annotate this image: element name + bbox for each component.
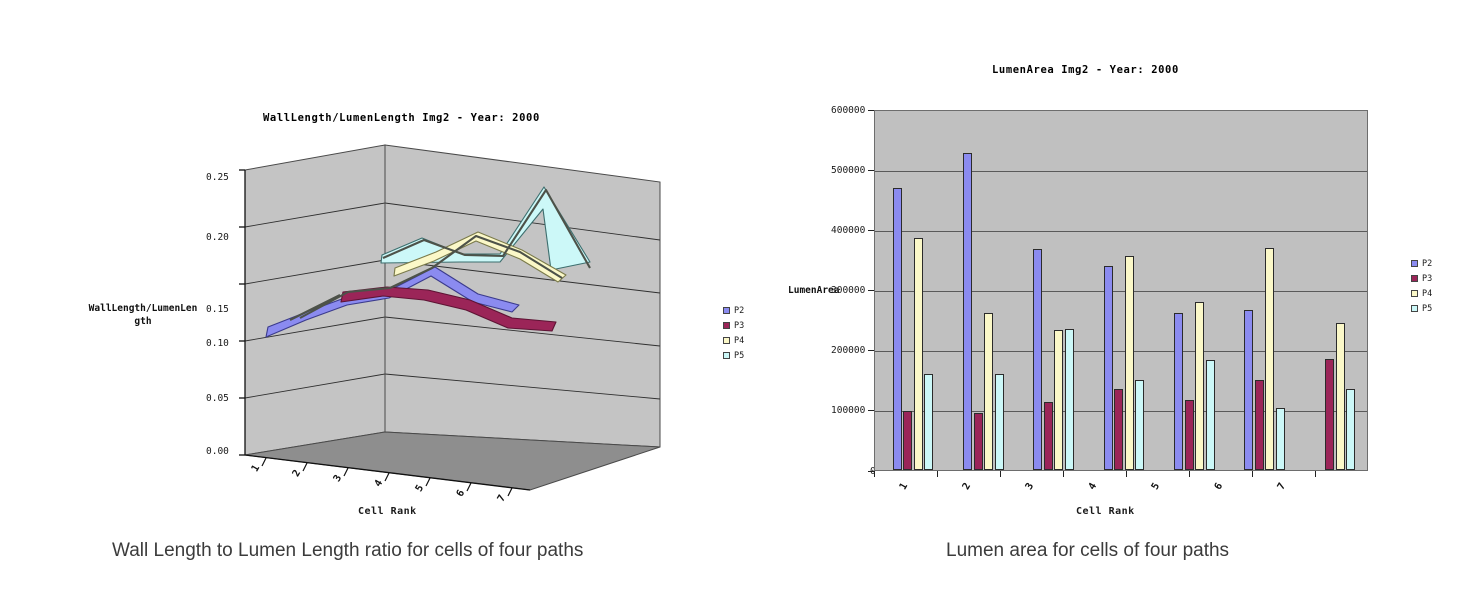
right-ytick-1: 500000 (831, 165, 865, 176)
legend-label-p4: P4 (734, 336, 744, 346)
bar-p4-cat-3 (1054, 330, 1063, 470)
legend-item-p3[interactable]: P3 (1411, 271, 1432, 286)
right-xtick-6: 7 (1276, 481, 1289, 492)
bar-p4-cat-2 (984, 313, 993, 470)
left-x-axis-label: Cell Rank (358, 506, 417, 517)
legend-swatch-p2-icon (1411, 260, 1418, 267)
legend-label-p4: P4 (1422, 289, 1432, 299)
right-xtick-5: 6 (1213, 481, 1226, 492)
legend-label-p3: P3 (1422, 274, 1432, 284)
left-chart-legend: P2 P3 P4 P5 (723, 303, 744, 363)
legend-swatch-p3-icon (1411, 275, 1418, 282)
legend-swatch-p5-icon (723, 352, 730, 359)
right-xtick-3: 4 (1087, 481, 1100, 492)
legend-item-p5[interactable]: P5 (1411, 301, 1432, 316)
bar-p2-cat-5 (1174, 313, 1183, 470)
bar-p3-cat-1 (903, 411, 912, 470)
right-xtickmark-7 (1315, 471, 1316, 477)
gridline-500000 (875, 171, 1367, 172)
legend-item-p4[interactable]: P4 (723, 333, 744, 348)
bar-p2-cat-3 (1033, 249, 1042, 470)
right-xtickmark-2 (1000, 471, 1001, 477)
bar-p3-cat-5 (1185, 400, 1194, 470)
bar-p2-cat-6 (1244, 310, 1253, 470)
right-ytick-2: 400000 (831, 225, 865, 236)
right-chart-caption: Lumen area for cells of four paths (946, 540, 1229, 562)
bar-p4-cat-5 (1195, 302, 1204, 470)
right-chart-panel: LumenArea Img2 - Year: 2000 LumenArea 60… (820, 0, 1478, 608)
bar-p5-cat-2 (995, 374, 1004, 470)
bar-p3-cat-4 (1114, 389, 1123, 470)
legend-swatch-p5-icon (1411, 305, 1418, 312)
bar-p5-cat-7 (1346, 389, 1355, 470)
left-chart-caption: Wall Length to Lumen Length ratio for ce… (112, 540, 583, 562)
right-xtickmark-0 (874, 471, 875, 477)
right-xtick-0: 1 (898, 481, 911, 492)
gridline-400000 (875, 231, 1367, 232)
gridline-200000 (875, 351, 1367, 352)
right-xtick-4: 5 (1150, 481, 1163, 492)
right-xtick-1: 2 (961, 481, 974, 492)
bar-p3-cat-7 (1325, 359, 1334, 470)
legend-label-p2: P2 (734, 306, 744, 316)
bar-p5-cat-3 (1065, 329, 1074, 470)
right-xtickmark-6 (1252, 471, 1253, 477)
bar-p4-cat-6 (1265, 248, 1274, 470)
bar-p2-cat-1 (893, 188, 902, 470)
legend-swatch-p4-icon (1411, 290, 1418, 297)
legend-item-p2[interactable]: P2 (1411, 256, 1432, 271)
bar-p5-cat-5 (1206, 360, 1215, 470)
legend-item-p3[interactable]: P3 (723, 318, 744, 333)
right-chart-legend: P2 P3 P4 P5 (1411, 256, 1432, 316)
right-ytick-4: 200000 (831, 345, 865, 356)
bar-p4-cat-7 (1336, 323, 1345, 470)
right-xtickmark-5 (1189, 471, 1190, 477)
right-ytick-0: 600000 (831, 105, 865, 116)
right-xtick-2: 3 (1024, 481, 1037, 492)
legend-swatch-p4-icon (723, 337, 730, 344)
left-chart-panel: WallLength/LumenLength Img2 - Year: 2000… (0, 0, 820, 608)
figure-container: WallLength/LumenLength Img2 - Year: 2000… (0, 0, 1478, 608)
legend-swatch-p2-icon (723, 307, 730, 314)
right-x-axis-label: Cell Rank (1076, 506, 1135, 517)
bar-p4-cat-4 (1125, 256, 1134, 470)
right-chart-title: LumenArea Img2 - Year: 2000 (992, 64, 1179, 76)
left-y-ticks (239, 170, 245, 455)
bar-p5-cat-4 (1135, 380, 1144, 470)
legend-item-p4[interactable]: P4 (1411, 286, 1432, 301)
bar-p2-cat-4 (1104, 266, 1113, 470)
bar-p3-cat-3 (1044, 402, 1053, 470)
right-xtickmark-4 (1126, 471, 1127, 477)
right-ytick-3: 300000 (831, 285, 865, 296)
legend-label-p3: P3 (734, 321, 744, 331)
legend-swatch-p3-icon (723, 322, 730, 329)
right-xtickmark-1 (937, 471, 938, 477)
bar-p4-cat-1 (914, 238, 923, 470)
right-xtickmark-3 (1063, 471, 1064, 477)
legend-label-p5: P5 (734, 351, 744, 361)
right-ytick-5: 100000 (831, 405, 865, 416)
gridline-300000 (875, 291, 1367, 292)
legend-label-p5: P5 (1422, 304, 1432, 314)
legend-item-p2[interactable]: P2 (723, 303, 744, 318)
right-plot-area (874, 110, 1368, 471)
legend-label-p2: P2 (1422, 259, 1432, 269)
legend-item-p5[interactable]: P5 (723, 348, 744, 363)
bar-p3-cat-2 (974, 413, 983, 470)
bar-p5-cat-6 (1276, 408, 1285, 470)
bar-p5-cat-1 (924, 374, 933, 470)
bar-p3-cat-6 (1255, 380, 1264, 470)
bar-p2-cat-2 (963, 153, 972, 470)
